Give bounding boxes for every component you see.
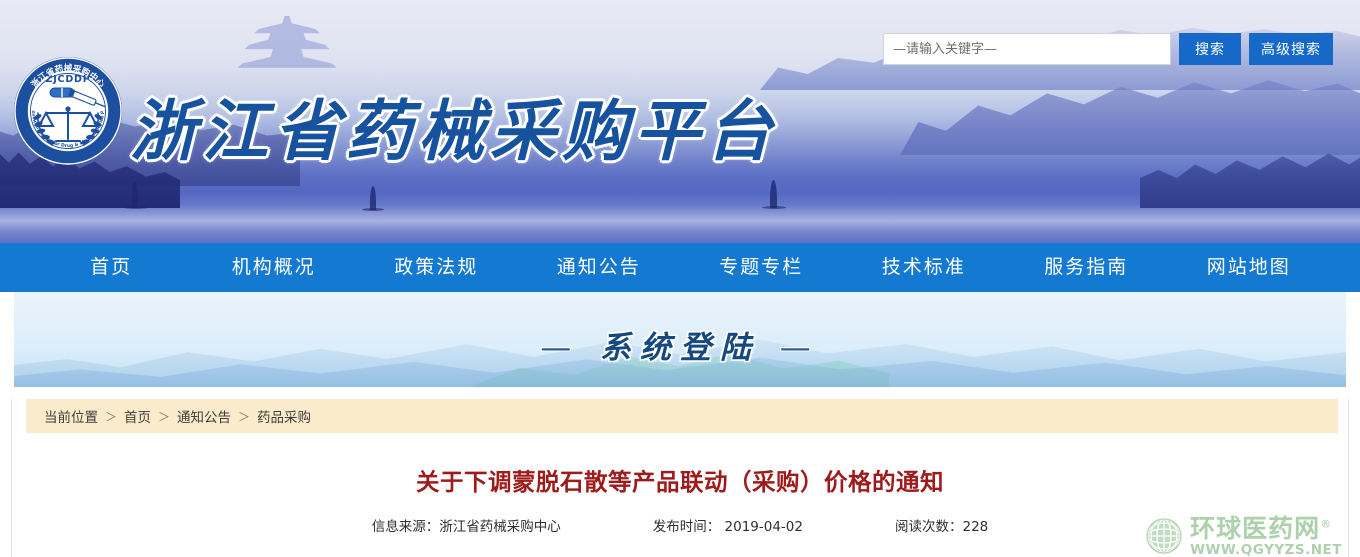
article-publish-value: 2019-04-02: [725, 519, 803, 535]
lake-islet-icon-3: [770, 180, 777, 208]
search-input[interactable]: [883, 33, 1171, 65]
watermark-text: 环球医药网® WWW.QGYYZS.NET: [1190, 516, 1342, 557]
nav-item-announcements[interactable]: 通知公告: [518, 243, 681, 292]
registered-trademark-icon: ®: [1320, 517, 1332, 530]
nav-item-service-guide[interactable]: 服务指南: [1005, 243, 1168, 292]
nav-item-home[interactable]: 首页: [30, 243, 193, 292]
nav-item-standards[interactable]: 技术标准: [843, 243, 1006, 292]
login-dash-left: —: [540, 330, 580, 366]
system-login-banner[interactable]: — 系统登陆 —: [14, 292, 1346, 387]
watermark-logo: 环球医药网® WWW.QGYYZS.NET: [1144, 516, 1342, 557]
article-views-value: 228: [962, 519, 988, 535]
watermark-url: WWW.QGYYZS.NET: [1190, 544, 1342, 557]
search-area: 搜索 高级搜索: [883, 33, 1333, 65]
main-navigation: 首页 机构概况 政策法规 通知公告 专题专栏 技术标准 服务指南 网站地图: [0, 243, 1360, 292]
breadcrumb: 当前位置 ＞ 首页 ＞ 通知公告 ＞ 药品采购: [26, 399, 1338, 433]
article-view-count: 阅读次数：228: [895, 515, 988, 535]
breadcrumb-prefix: 当前位置: [44, 406, 98, 426]
watermark-brand-name: 环球医药网: [1190, 514, 1320, 543]
organization-emblem-logo[interactable]: ZJCDDP 浙江省药械采购中心 Zhejiang Provincial Cen…: [12, 55, 124, 167]
breadcrumb-item-announcements[interactable]: 通知公告: [177, 406, 231, 426]
lake-islet-base-2: [362, 208, 384, 211]
breadcrumb-item-home[interactable]: 首页: [124, 406, 151, 426]
article-source-label: 信息来源：: [372, 519, 440, 535]
breadcrumb-separator-1: ＞: [105, 408, 117, 425]
nav-item-policy[interactable]: 政策法规: [355, 243, 518, 292]
nav-item-sitemap[interactable]: 网站地图: [1168, 243, 1331, 292]
login-dash-right: —: [780, 330, 820, 366]
lake-islet-base-1: [124, 206, 148, 209]
nav-item-overview[interactable]: 机构概况: [193, 243, 356, 292]
article-source: 信息来源：浙江省药械采购中心: [372, 515, 561, 535]
lake-islet-base-3: [762, 206, 786, 209]
search-button[interactable]: 搜索: [1179, 33, 1241, 65]
watermark-brand: 环球医药网®: [1190, 516, 1342, 541]
login-banner-container: — 系统登陆 —: [0, 292, 1360, 387]
article-views-label: 阅读次数：: [895, 519, 963, 535]
content-panel: 当前位置 ＞ 首页 ＞ 通知公告 ＞ 药品采购 关于下调蒙脱石散等产品联动（采购…: [11, 399, 1349, 557]
site-title: 浙江省药械采购平台: [130, 78, 778, 174]
article-title: 关于下调蒙脱石散等产品联动（采购）价格的通知: [12, 463, 1348, 497]
site-header-banner: ZJCDDP 浙江省药械采购中心 Zhejiang Provincial Cen…: [0, 0, 1360, 243]
lake-islet-icon-2: [370, 186, 376, 210]
breadcrumb-item-drug-procurement[interactable]: 药品采购: [257, 406, 311, 426]
breadcrumb-separator-3: ＞: [238, 408, 250, 425]
article-source-value: 浙江省药械采购中心: [439, 519, 561, 535]
nav-item-topics[interactable]: 专题专栏: [680, 243, 843, 292]
globe-icon: [1144, 516, 1184, 556]
nav-list: 首页 机构概况 政策法规 通知公告 专题专栏 技术标准 服务指南 网站地图: [30, 243, 1330, 292]
article-publish-label: 发布时间：: [653, 519, 721, 535]
advanced-search-button[interactable]: 高级搜索: [1249, 33, 1333, 65]
breadcrumb-separator-2: ＞: [158, 408, 170, 425]
system-login-title: — 系统登陆 —: [14, 322, 1346, 367]
login-title-text: 系统登陆: [600, 330, 760, 366]
article-publish-date: 发布时间： 2019-04-02: [653, 515, 803, 535]
